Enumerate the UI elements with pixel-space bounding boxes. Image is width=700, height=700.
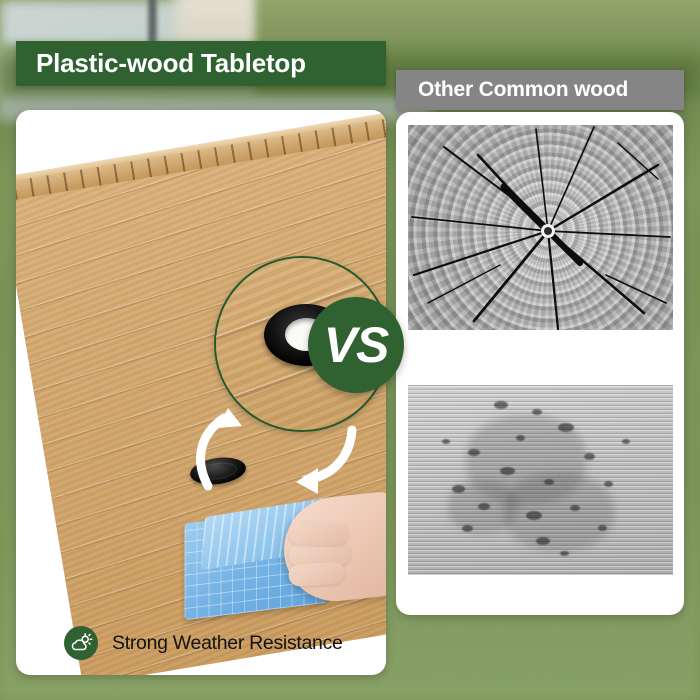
- cracked-tree-rings-photo: [408, 125, 673, 330]
- plastic-wood-card: Strong Weather Resistance Low Maintenanc…: [16, 110, 386, 675]
- feature-item-weather: Strong Weather Resistance: [64, 626, 386, 660]
- left-panel-title: Plastic-wood Tabletop: [36, 48, 306, 79]
- feature-label: Strong Weather Resistance: [112, 632, 343, 655]
- feature-list: Strong Weather Resistance Low Maintenanc…: [64, 626, 386, 675]
- right-panel-title: Other Common wood: [418, 78, 628, 102]
- vs-badge: VS: [308, 297, 404, 393]
- common-wood-card: Not durable Not waterproof: [396, 112, 684, 615]
- sun-cloud-icon: [64, 626, 98, 660]
- left-panel-title-banner: Plastic-wood Tabletop: [16, 41, 386, 86]
- moldy-wood-photo: [408, 385, 673, 575]
- crack-lines: [408, 125, 673, 330]
- vs-label: VS: [324, 316, 389, 374]
- right-panel-title-banner: Other Common wood: [396, 70, 684, 110]
